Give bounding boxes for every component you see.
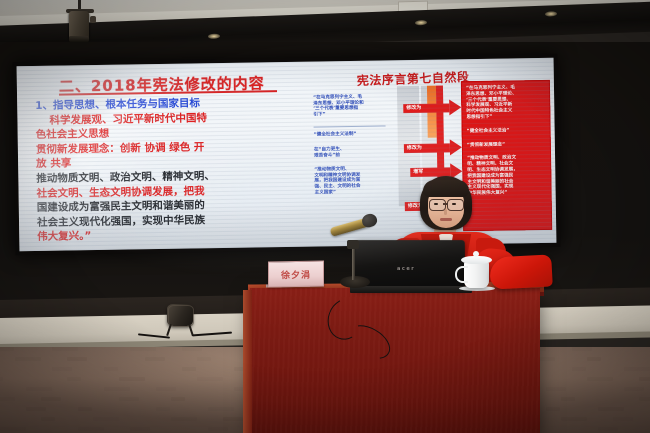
microphone-stand-stem xyxy=(352,246,355,280)
microphone-clip xyxy=(347,240,359,249)
laptop-brand-label: acer xyxy=(397,266,415,272)
red-cloth-drape xyxy=(489,254,553,289)
nameplate: 徐夕涓 xyxy=(268,261,324,288)
floor-stage-light-icon xyxy=(160,302,200,338)
teacup-lid-knob xyxy=(473,251,479,257)
microphone-stand-base xyxy=(340,276,370,288)
stage-spotlight-icon xyxy=(62,0,98,44)
eyeglasses-bridge xyxy=(443,203,448,205)
laptop-base xyxy=(350,286,472,293)
podium-woodgrain xyxy=(250,288,540,433)
nameplate-text: 徐夕涓 xyxy=(269,268,323,282)
nose xyxy=(444,209,447,215)
teacup-handle xyxy=(455,266,468,283)
teacup-lid[interactable] xyxy=(461,256,492,264)
podium xyxy=(250,288,540,433)
mouth xyxy=(440,218,452,221)
lecture-hall-photo: 二、2018年宪法修改的内容 1、指导思想、根本任务与国家目标 科学发展观、习近… xyxy=(0,0,650,433)
bangs xyxy=(423,180,469,197)
eyeglasses-right-lens xyxy=(447,199,464,211)
laptop[interactable]: acer xyxy=(355,240,465,289)
podium-side-panel xyxy=(243,290,252,433)
